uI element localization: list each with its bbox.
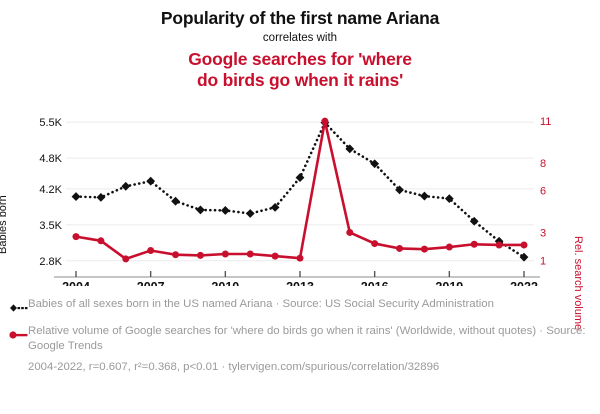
- y-tick-left: 3.5K: [39, 220, 62, 232]
- chart-footer-source: 2004-2022, r=0.607, r²=0.368, p<0.01 · t…: [0, 360, 600, 375]
- chart-title: Popularity of the first name Ariana: [0, 7, 600, 29]
- chart-subtitle-line1: Google searches for 'where: [188, 49, 412, 69]
- data-point: [321, 118, 328, 125]
- legend-label-babies: Babies of all sexes born in the US named…: [28, 297, 494, 312]
- y-tick-left: 4.2K: [39, 184, 62, 196]
- y-tick-right: 6: [540, 186, 546, 198]
- data-point: [395, 186, 404, 195]
- chart-legend: Babies of all sexes born in the US named…: [0, 297, 600, 375]
- y-tick-left: 2.8K: [39, 256, 62, 268]
- data-point: [73, 233, 80, 240]
- data-point: [171, 197, 180, 206]
- x-tick-label: 2016: [361, 280, 389, 286]
- data-point: [197, 252, 204, 259]
- y-tick-right: 11: [540, 116, 551, 128]
- data-point: [147, 247, 154, 254]
- series-line-0: [76, 123, 524, 258]
- x-tick-label: 2019: [435, 280, 463, 286]
- data-point: [222, 251, 229, 258]
- legend-item-searches: Relative volume of Google searches for '…: [0, 324, 600, 353]
- data-point: [296, 173, 305, 182]
- data-point: [172, 251, 179, 258]
- data-point: [371, 240, 378, 247]
- y-tick-right: 8: [540, 158, 546, 170]
- chart-subtitle: Google searches for 'where do birds go w…: [0, 49, 600, 91]
- x-tick-label: 2007: [137, 280, 165, 286]
- data-point: [72, 192, 81, 201]
- circle-solid-marker-icon: [4, 324, 28, 345]
- data-point: [96, 193, 105, 202]
- data-point: [396, 245, 403, 252]
- data-point: [272, 253, 279, 260]
- data-point: [520, 253, 529, 262]
- data-point: [221, 206, 230, 215]
- data-point: [122, 255, 129, 262]
- data-point: [146, 177, 155, 186]
- data-point: [97, 237, 104, 244]
- x-tick-label: 2022: [510, 280, 538, 286]
- y-tick-left: 5.5K: [39, 117, 62, 129]
- data-point: [470, 217, 479, 226]
- x-tick-label: 2010: [211, 280, 239, 286]
- data-point: [445, 194, 454, 203]
- plot-area: Babies born Rel. search volume 2.8K3.5K4…: [0, 104, 600, 286]
- data-point: [521, 241, 528, 248]
- data-point: [420, 192, 429, 201]
- chart-title-connector: correlates with: [0, 31, 600, 46]
- chart-subtitle-line2: do birds go when it rains': [197, 70, 403, 90]
- title-block: Popularity of the first name Ariana corr…: [0, 0, 600, 91]
- series-line-1: [76, 121, 524, 259]
- y-tick-right: 1: [540, 255, 546, 267]
- data-point: [446, 244, 453, 251]
- legend-item-babies: Babies of all sexes born in the US named…: [0, 297, 600, 318]
- chart-screenshot: Popularity of the first name Ariana corr…: [0, 0, 600, 414]
- legend-label-searches: Relative volume of Google searches for '…: [28, 324, 594, 353]
- y-axis-left-title: Babies born: [0, 195, 9, 254]
- data-point: [297, 255, 304, 262]
- data-point: [247, 251, 254, 258]
- data-point: [196, 206, 205, 215]
- data-point: [471, 241, 478, 248]
- x-tick-label: 2004: [62, 280, 90, 286]
- data-point: [121, 182, 130, 191]
- data-point: [421, 246, 428, 253]
- chart-canvas: 2.8K3.5K4.2K4.8K5.5K13681120042007201020…: [0, 104, 600, 286]
- data-point: [346, 229, 353, 236]
- data-point: [496, 241, 503, 248]
- data-point: [246, 209, 255, 218]
- y-tick-right: 3: [540, 227, 546, 239]
- y-tick-left: 4.8K: [39, 153, 62, 165]
- x-tick-label: 2013: [286, 280, 314, 286]
- diamond-dotted-marker-icon: [4, 297, 28, 318]
